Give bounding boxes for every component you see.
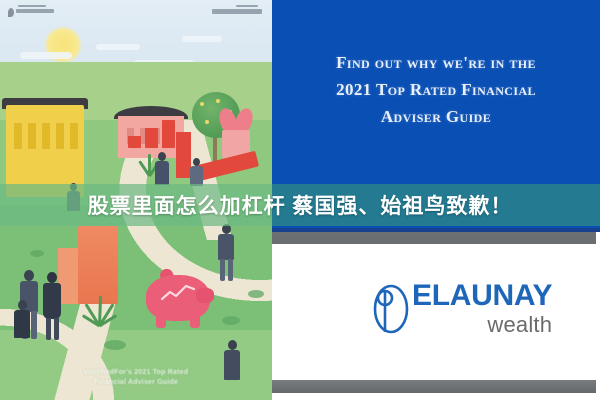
window-shape <box>56 123 64 149</box>
person-leg <box>220 259 225 281</box>
overlay-headline-text: 股票里面怎么加杠杆 蔡国强、始祖鸟致歉！ <box>0 184 600 226</box>
person-head <box>193 158 200 166</box>
brand-name: ELAUNAY <box>412 282 552 311</box>
delaunay-d-monogram-icon <box>372 282 410 336</box>
person-body <box>190 166 203 186</box>
vouchedfor-logo <box>8 5 56 15</box>
tree-fruit <box>216 99 220 103</box>
brand-logo-area[interactable]: ELAUNAY wealth <box>272 252 600 376</box>
person-head <box>18 300 27 310</box>
chart-bar-tall <box>176 132 191 178</box>
brand-logo: ELAUNAY wealth <box>372 282 552 338</box>
caption-line-2: Financial Adviser Guide <box>94 379 178 386</box>
chart-bar <box>162 120 175 148</box>
headline-overlay-band: 股票里面怎么加杠杆 蔡国强、始祖鸟致歉！ <box>0 184 600 226</box>
bush-shape <box>222 316 240 325</box>
person-body <box>218 234 234 260</box>
chart-bar <box>145 128 158 148</box>
gray-divider-bottom <box>272 380 596 393</box>
ad-headline: Find out why we're in the 2021 Top Rated… <box>272 50 600 131</box>
ad-headline-line-2: 2021 Top Rated Financial <box>272 77 600 104</box>
partner-logo <box>206 5 262 16</box>
brand-tagline: wealth <box>412 312 552 338</box>
person-head <box>24 270 34 281</box>
person-leg <box>31 311 37 339</box>
person-leg <box>54 318 59 340</box>
cloud-shape <box>182 36 222 42</box>
gray-divider-top <box>272 232 596 244</box>
person-body <box>155 161 169 185</box>
person-head <box>158 152 166 161</box>
person-head <box>228 340 237 350</box>
bush-shape <box>248 290 264 298</box>
bush-shape <box>104 340 126 350</box>
window-shape <box>70 123 78 149</box>
window-shape <box>28 123 36 149</box>
ad-headline-line-3: Adviser Guide <box>272 104 600 131</box>
person-body <box>43 283 61 319</box>
piggy-growth-line-icon <box>160 283 198 303</box>
person-body <box>14 310 30 338</box>
tree-fruit <box>200 102 204 106</box>
tree-fruit <box>205 120 209 124</box>
person-head <box>47 272 57 283</box>
grass-plant <box>82 292 116 326</box>
cloud-shape <box>20 52 72 59</box>
window-shape <box>14 123 22 149</box>
person-leg <box>228 259 233 281</box>
brand-wordmark: ELAUNAY wealth <box>412 282 552 338</box>
piggy-snout <box>196 288 214 303</box>
window-shape <box>42 123 50 149</box>
screenshot-root: VouchedFor's 2021 Top Rated Financial Ad… <box>0 0 600 400</box>
bush-shape <box>30 250 44 257</box>
person-leg <box>46 318 51 340</box>
cover-caption: VouchedFor's 2021 Top Rated Financial Ad… <box>0 368 272 388</box>
cloud-shape <box>96 44 140 50</box>
caption-line-1: VouchedFor's 2021 Top Rated <box>84 369 188 376</box>
chart-bar <box>128 136 141 148</box>
ad-headline-line-1: Find out why we're in the <box>272 50 600 77</box>
